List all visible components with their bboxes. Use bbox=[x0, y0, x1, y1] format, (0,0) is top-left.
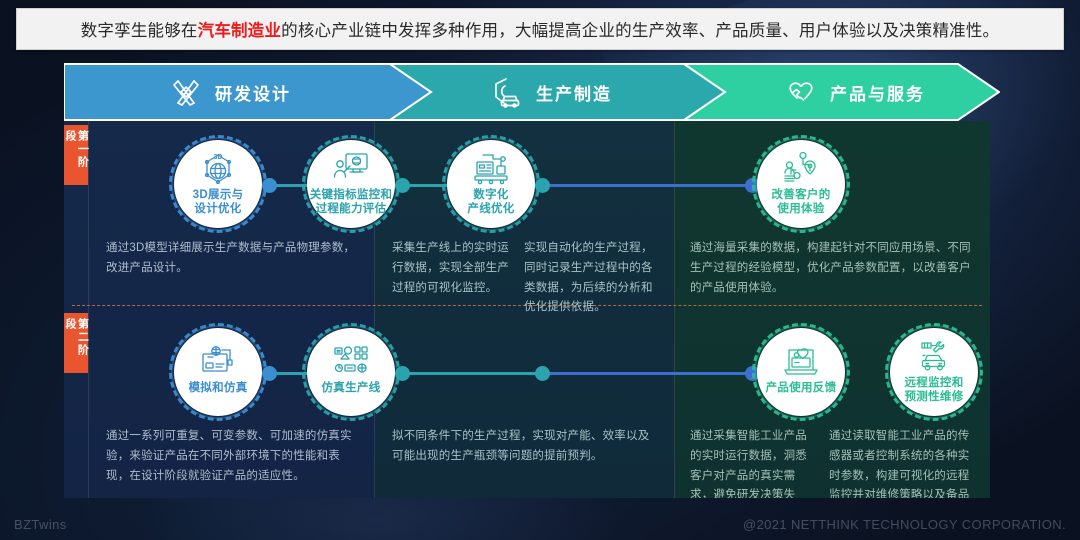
node-disc: 改善客户的 使用体验 bbox=[757, 140, 845, 228]
headline-banner: 数字孪生能够在汽车制造业的核心产业链中发挥多种作用，大幅提高企业的生产效率、产品… bbox=[16, 8, 1064, 50]
phase-arrow-manufacturing[interactable]: 生产制造 bbox=[390, 63, 730, 121]
stage-badge-1: 第一阶段 bbox=[64, 125, 88, 185]
node-description: 通过3D模型详细展示生产数据与产品物理参数，改进产品设计。 bbox=[106, 239, 356, 279]
node-title: 3D展示与 设计优化 bbox=[193, 188, 244, 216]
node-title: 关键指标监控和 过程能力评估 bbox=[310, 188, 393, 216]
connector-knob-r2-3 bbox=[535, 366, 550, 381]
node-title: 产品使用反馈 bbox=[766, 381, 837, 395]
node-description: 拟不同条件下的生产过程，实现对产能、效率以及可能出现的生产瓶颈等问题的提前预判。 bbox=[392, 427, 652, 467]
node-disc: 仿真生产线 bbox=[307, 328, 395, 416]
node-disc: 3D 3D展示与 设计优化 bbox=[174, 140, 262, 228]
monitor-person-icon bbox=[331, 151, 371, 185]
stage-badge-label: 第二阶段 bbox=[64, 318, 88, 368]
drafting-tools-icon bbox=[169, 75, 203, 109]
headline-text: 数字孪生能够在汽车制造业的核心产业链中发挥多种作用，大幅提高企业的生产效率、产品… bbox=[81, 17, 1000, 41]
connector-rail-r2-c bbox=[542, 372, 752, 375]
headline-text-post: 的核心产业链中发挥多种作用，大幅提高企业的生产效率、产品质量、用户体验以及决策精… bbox=[281, 22, 999, 40]
content-panel: 第一阶段 第二阶段 3D 3D bbox=[64, 121, 990, 498]
robot-arm-icon bbox=[331, 344, 371, 378]
node-description: 通过读取智能工业产品的传感器或者控制系统的各种实时参数，构建可视化的远程监控并对… bbox=[829, 427, 979, 498]
connector-rail-r1-c bbox=[542, 184, 752, 187]
footer-brand: BZTwins bbox=[14, 517, 67, 532]
phase-arrow-label: 生产制造 bbox=[536, 80, 612, 105]
node-disc: 数字化 产线优化 bbox=[447, 140, 535, 228]
phase-arrow-label: 研发设计 bbox=[215, 80, 291, 105]
3d-globe-icon: 3D bbox=[198, 151, 238, 185]
node-title: 数字化 产线优化 bbox=[467, 188, 514, 216]
node-disc: 关键指标监控和 过程能力评估 bbox=[307, 140, 395, 228]
stage-badge-2: 第二阶段 bbox=[64, 313, 88, 373]
node-description: 通过海量采集的数据，构建起针对不同应用场景、不同生产过程的经验模型，优化产品参数… bbox=[690, 239, 975, 298]
node-disc: 远程监控和 预测性维修 bbox=[890, 328, 978, 416]
stage-badge-label: 第一阶段 bbox=[64, 130, 88, 180]
phase-arrow-strip: 研发设计 生产制造 bbox=[64, 63, 1000, 121]
node-title: 仿真生产线 bbox=[322, 381, 381, 395]
car-wrench-icon bbox=[914, 339, 954, 373]
node-description: 实现自动化的生产过程，同时记录生产过程中的各类数据，为后续的分析和优化提供依据。 bbox=[524, 239, 664, 318]
production-line-icon bbox=[471, 151, 511, 185]
simulation-screen-icon bbox=[198, 344, 238, 378]
phase-arrow-product-service[interactable]: 产品与服务 bbox=[684, 63, 1000, 121]
laptop-feedback-icon bbox=[781, 344, 821, 378]
connector-rail-r2-b bbox=[402, 372, 542, 375]
node-disc: 模拟和仿真 bbox=[174, 328, 262, 416]
node-disc: 产品使用反馈 bbox=[757, 328, 845, 416]
node-title: 远程监控和 预测性维修 bbox=[905, 376, 964, 404]
headline-text-pre: 数字孪生能够在 bbox=[81, 22, 198, 40]
node-description: 通过采集智能工业产品的实时运行数据，洞悉客户对产品的真实需求，避免研发决策失误。 bbox=[690, 427, 818, 498]
node-title: 模拟和仿真 bbox=[189, 381, 248, 395]
node-description: 采集生产线上的实时运行数据，实现全部生产过程的可视化监控。 bbox=[392, 239, 512, 298]
user-location-icon bbox=[781, 151, 821, 185]
footer-copyright: @2021 NETTHINK TECHNOLOGY CORPORATION. bbox=[743, 517, 1066, 532]
node-description: 通过一系列可重复、可变参数、可加速的仿真实验，来验证产品在不同外部环境下的性能和… bbox=[106, 427, 356, 486]
car-manufacturing-icon bbox=[490, 75, 524, 109]
phase-arrow-label: 产品与服务 bbox=[830, 80, 925, 105]
phase-arrow-research-design[interactable]: 研发设计 bbox=[64, 63, 436, 121]
headline-highlight: 汽车制造业 bbox=[198, 22, 282, 40]
column-divider bbox=[674, 121, 675, 498]
handshake-icon bbox=[784, 75, 818, 109]
node-title: 改善客户的 使用体验 bbox=[772, 188, 831, 216]
